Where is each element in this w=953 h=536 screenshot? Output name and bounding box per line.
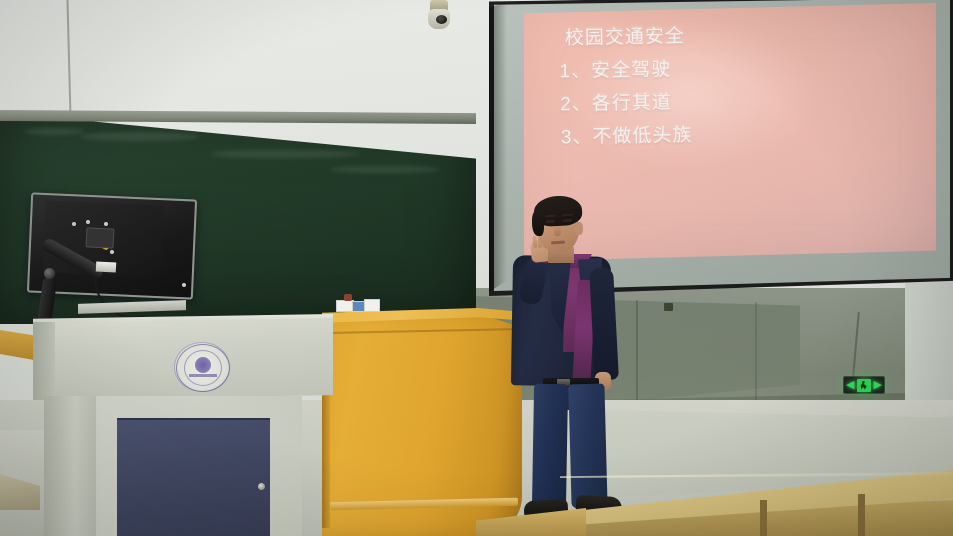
eraser-item[interactable] — [364, 299, 380, 312]
vesa-screw — [72, 222, 76, 226]
running-person-icon — [857, 379, 871, 392]
vesa-screw — [182, 283, 186, 287]
lectern-left-column — [44, 396, 96, 536]
presenter-left-leg — [532, 384, 568, 511]
wall-seam — [636, 300, 638, 408]
wall-seam — [755, 302, 757, 410]
small-red-item[interactable] — [344, 294, 352, 301]
lectern-side-face — [33, 322, 55, 400]
chalk-smear — [330, 166, 440, 173]
presenter-right-leg — [568, 384, 607, 509]
presenter-hair-side — [532, 210, 544, 236]
exit-right-arrow-icon: ▶ — [874, 380, 882, 391]
wooden-ledge-left — [0, 330, 34, 360]
screen-left-shadow — [489, 2, 507, 292]
emblem-figure-icon — [195, 357, 211, 373]
chalk-smear — [24, 128, 84, 135]
monitor-vesa-mount — [85, 227, 114, 248]
bench-leg — [760, 500, 767, 536]
lectern-door-lock[interactable] — [258, 483, 265, 490]
classroom-photo: 校园交通安全 1、安全驾驶 2、各行其道 3、不做低头族 — [0, 0, 953, 536]
exit-left-arrow-icon: ◀ — [846, 380, 854, 391]
slide-item-3: 3、不做低头族 — [561, 122, 911, 148]
vesa-screw — [86, 220, 90, 224]
presenter-nose — [554, 226, 561, 236]
bench-leg — [858, 494, 865, 536]
emblem-text-band — [189, 374, 217, 377]
slide-item-2: 2、各行其道 — [560, 89, 910, 115]
chalk-smear — [210, 150, 360, 158]
slide-text-block: 校园交通安全 1、安全驾驶 2、各行其道 3、不做低头族 — [559, 23, 911, 162]
monitor-arm-joint[interactable] — [44, 268, 55, 279]
presenter-ear — [574, 222, 583, 235]
vesa-screw — [104, 222, 108, 226]
slide-title: 校园交通安全 — [565, 23, 909, 49]
monitor-label-plate — [96, 261, 116, 272]
chalk-smear — [80, 132, 200, 141]
slide-item-1: 1、安全驾驶 — [559, 56, 909, 82]
camera-lens-icon — [436, 15, 447, 24]
presenter-eye-right — [563, 219, 572, 223]
lectern-cabinet-door[interactable] — [117, 418, 270, 536]
presenter-eye-left — [546, 220, 555, 224]
vesa-screw — [110, 250, 114, 254]
emergency-exit-sign: ◀ ▶ — [843, 376, 885, 394]
wall-vent — [664, 303, 673, 311]
